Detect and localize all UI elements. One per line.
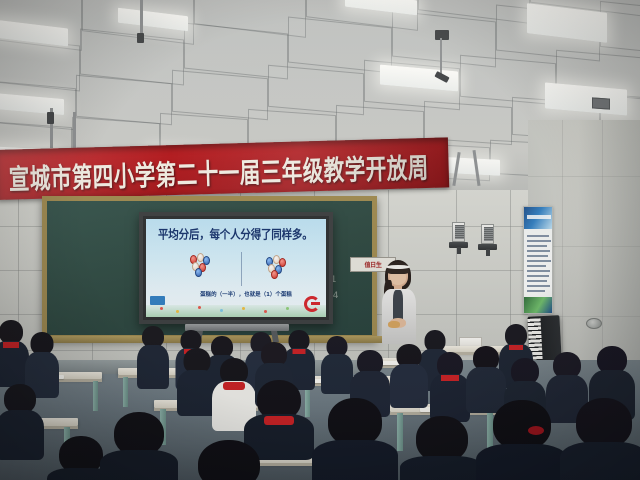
smoke-detector-icon xyxy=(586,318,602,329)
student xyxy=(432,352,468,416)
teacher-headband xyxy=(386,265,410,269)
student xyxy=(468,346,504,408)
slide-title: 平均分后，每个人分得了同样多。 xyxy=(158,226,320,243)
slide-content: 平均分后，每个人分得了同样多。 蛋糕的（一半），也就是（1）个蛋糕 xyxy=(146,219,326,317)
student xyxy=(0,320,28,384)
teacher-inner-top xyxy=(393,290,403,320)
hanging-rod-left xyxy=(140,0,143,36)
projector-mount xyxy=(435,30,449,40)
egg-group-right xyxy=(264,255,290,277)
student xyxy=(186,440,272,480)
student xyxy=(178,348,216,412)
divider-line xyxy=(241,252,242,286)
student xyxy=(566,398,640,480)
classroom-photo: 宣城市第四小学第二十一届三年级教学开放周 21 14 值日生 平均分后，每个人分… xyxy=(0,0,640,480)
hair-bow xyxy=(528,426,544,435)
wall-poster xyxy=(523,206,553,314)
teacher xyxy=(376,258,422,344)
slide-badge-icon xyxy=(150,296,165,305)
egg-group-left xyxy=(188,253,214,275)
student xyxy=(104,412,174,480)
student xyxy=(318,398,392,480)
projector-rod xyxy=(440,38,442,76)
student xyxy=(482,400,562,480)
student xyxy=(0,384,42,454)
hanging-rod-mid xyxy=(73,112,76,152)
hanging-bracket-left xyxy=(137,33,144,43)
hanging-bracket-left-2 xyxy=(47,112,54,124)
g-logo-icon xyxy=(304,296,320,312)
student xyxy=(406,416,478,480)
slide-subtitle: 蛋糕的（一半），也就是（1）个蛋糕 xyxy=(176,290,316,298)
ceiling-vent xyxy=(592,97,610,109)
projection-screen[interactable]: 平均分后，每个人分得了同样多。 蛋糕的（一半），也就是（1）个蛋糕 xyxy=(139,212,333,324)
teacher-held-object xyxy=(388,321,400,328)
student xyxy=(138,326,168,386)
poster-title-bar xyxy=(527,215,551,219)
student xyxy=(322,336,352,392)
slide-grass-strip xyxy=(146,305,326,317)
student xyxy=(392,344,426,404)
